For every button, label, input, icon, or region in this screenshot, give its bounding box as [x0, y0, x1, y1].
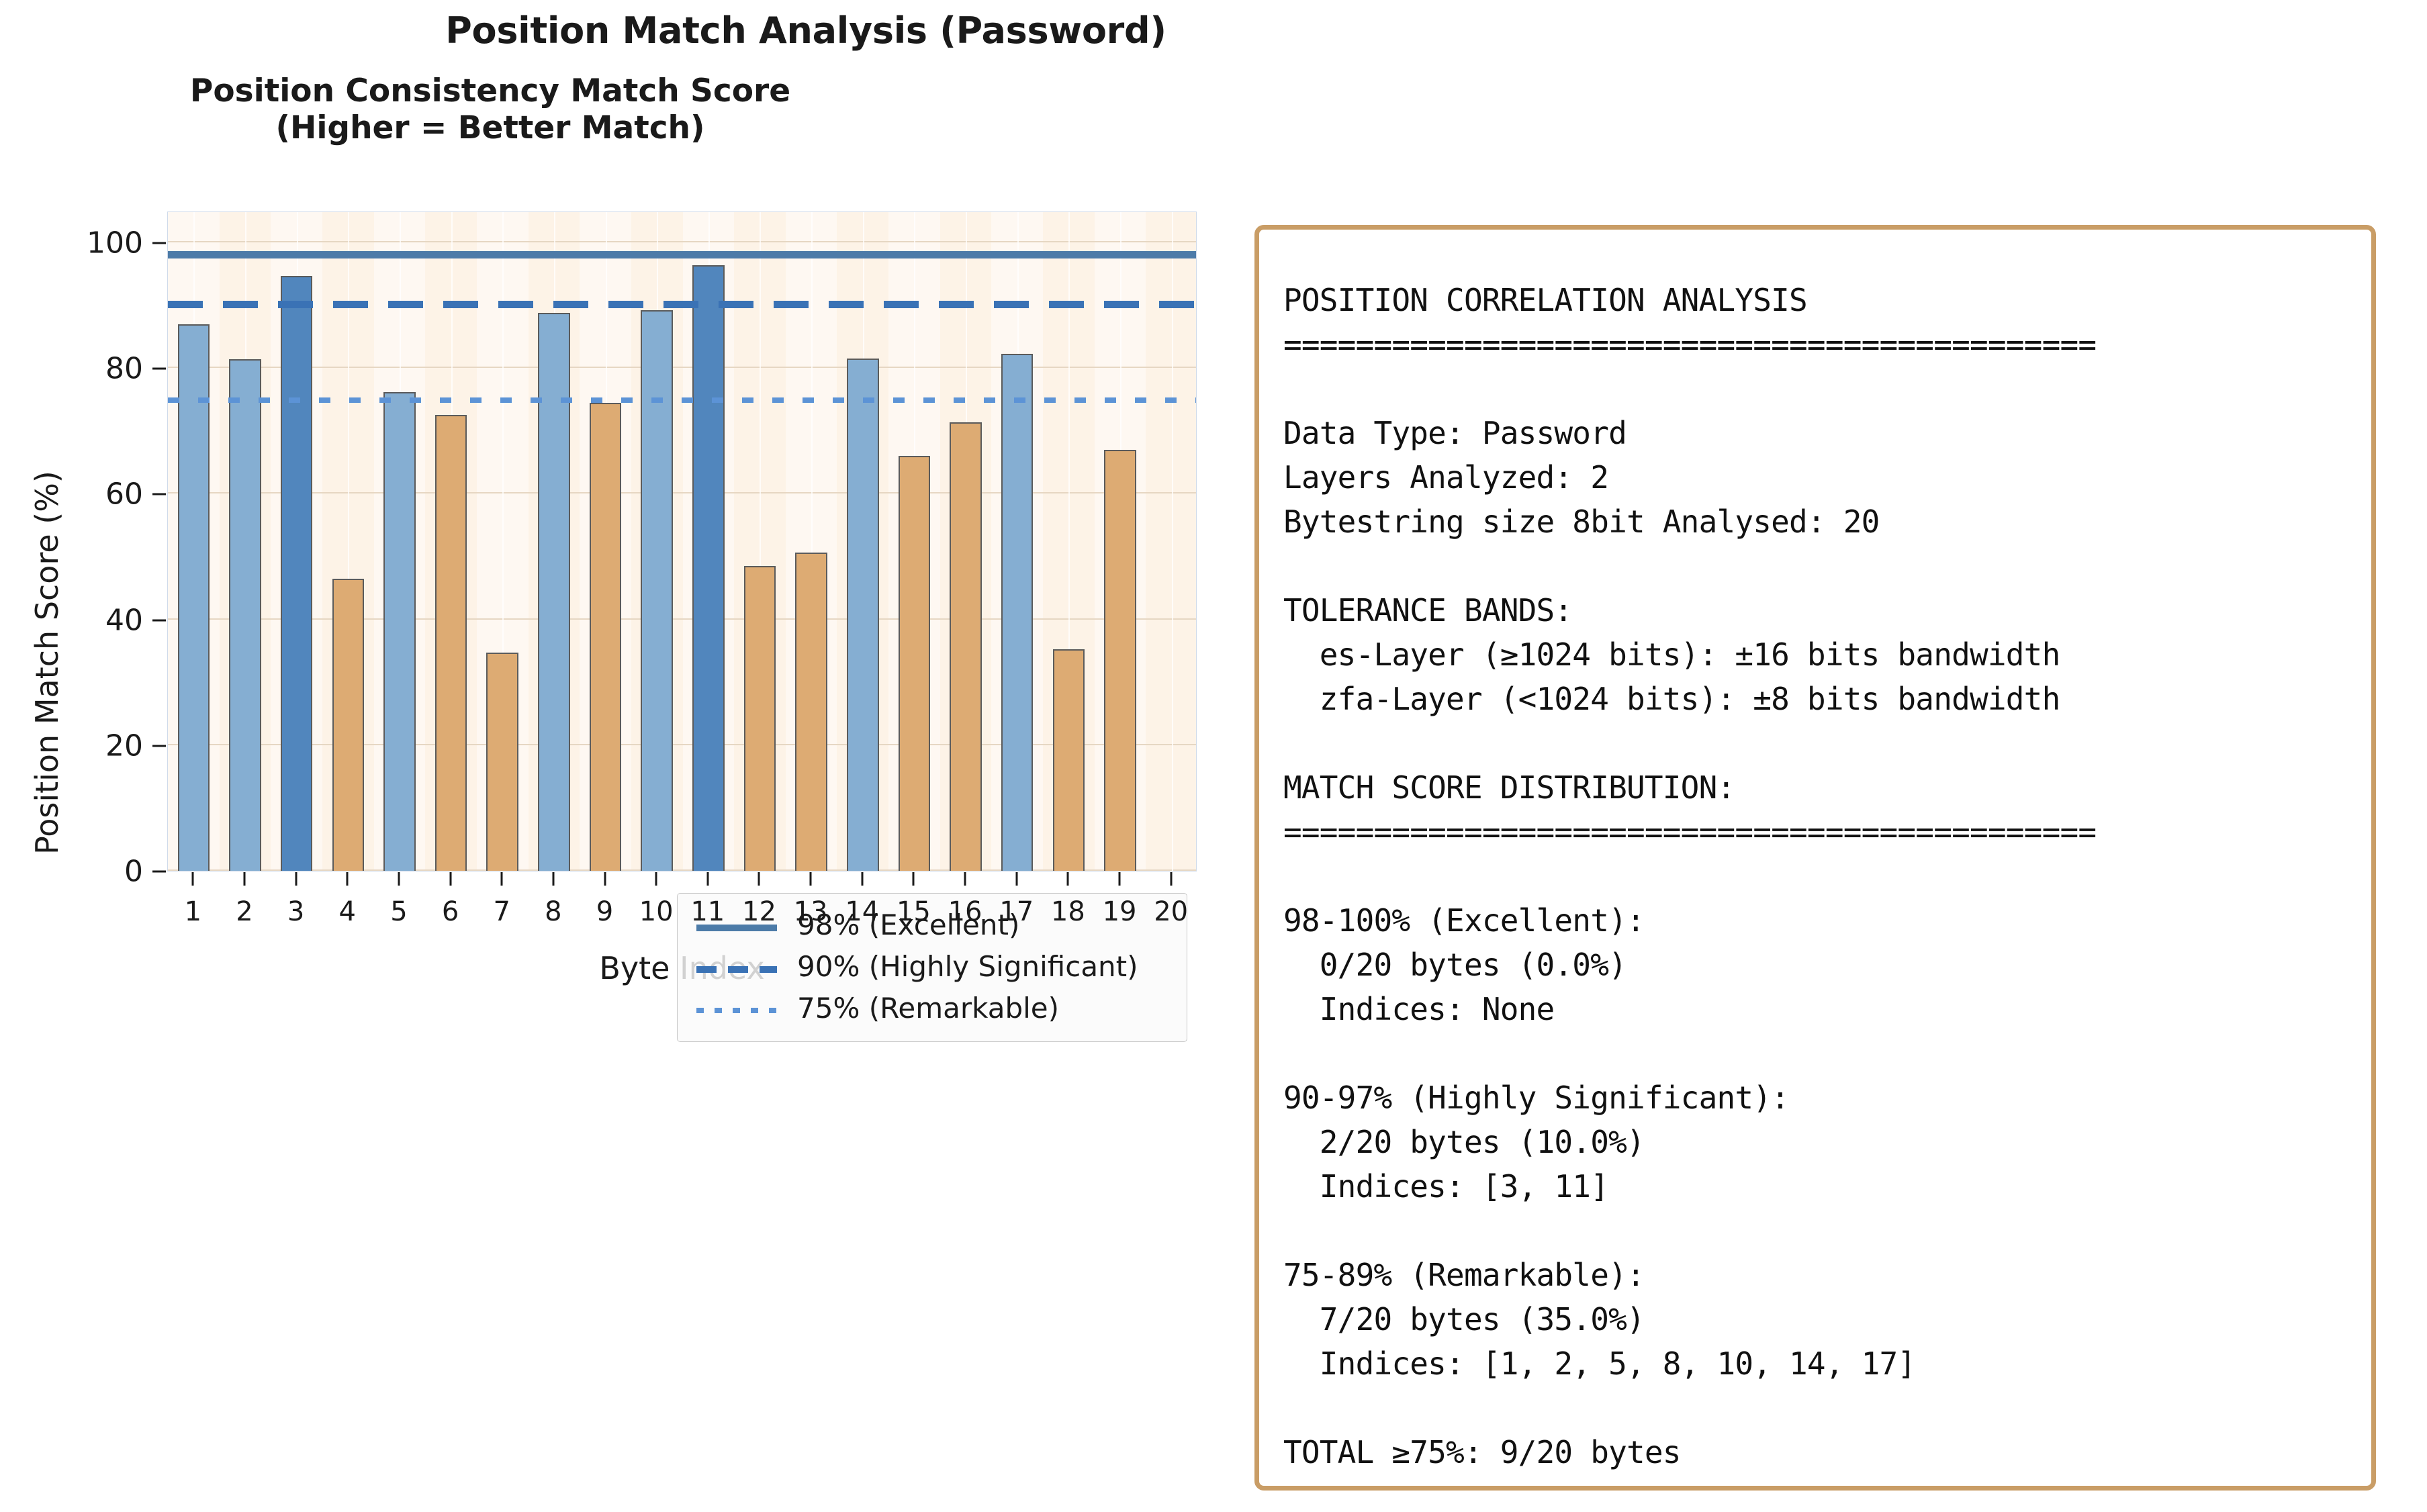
x-axis-tick-mark [1015, 872, 1017, 886]
legend-item-remarkable: 75% (Remarkable) [678, 989, 1187, 1031]
chart-title-line1: Position Consistency Match Score [190, 73, 790, 109]
x-axis-tick-label-2: 2 [236, 896, 253, 927]
gridline-horizontal [168, 618, 1196, 620]
bar-byte-16 [950, 422, 982, 871]
y-axis-tick-mark [152, 871, 166, 873]
x-axis-tick-label-14: 14 [845, 896, 879, 927]
x-axis-tick-mark [449, 872, 451, 886]
x-axis-tick-label-11: 11 [690, 896, 725, 927]
x-axis-tick-mark [1170, 872, 1172, 886]
x-axis-tick-mark [758, 872, 760, 886]
x-axis-tick-label-10: 10 [639, 896, 674, 927]
chart-title: Position Consistency Match Score (Higher… [154, 73, 826, 147]
x-axis-tick-mark [295, 872, 297, 886]
threshold-line-98 [168, 251, 1196, 258]
x-axis-tick-mark [810, 872, 812, 886]
legend-line-dashed-icon [696, 966, 777, 973]
x-axis-tick-mark [243, 872, 245, 886]
bar-byte-15 [899, 456, 931, 871]
x-axis-tick-label-12: 12 [742, 896, 776, 927]
y-axis-tick-mark [152, 745, 166, 747]
gridline-horizontal [168, 492, 1196, 493]
bar-byte-10 [641, 310, 673, 871]
x-axis-tick-label-18: 18 [1051, 896, 1085, 927]
x-axis-tick-label-20: 20 [1154, 896, 1188, 927]
gridline-horizontal [168, 367, 1196, 368]
x-axis-tick-label-7: 7 [493, 896, 510, 927]
y-axis-tick-label: 40 [42, 603, 143, 637]
x-axis-tick-mark [347, 872, 349, 886]
figure-suptitle: Position Match Analysis (Password) [0, 9, 1612, 52]
bar-byte-14 [847, 359, 879, 871]
y-axis-tick-label: 100 [42, 226, 143, 260]
report-text: POSITION CORRELATION ANALYSIS ==========… [1283, 278, 2096, 1474]
y-axis-tick-label: 60 [42, 477, 143, 512]
legend-label-highly-significant: 90% (Highly Significant) [797, 950, 1138, 983]
bar-byte-12 [744, 566, 776, 871]
x-axis-tick-label-13: 13 [794, 896, 828, 927]
y-axis-label: Position Match Score (%) [29, 394, 65, 931]
x-axis-tick-mark [964, 872, 966, 886]
x-axis-tick-label-19: 19 [1103, 896, 1137, 927]
x-axis-tick-mark [398, 872, 400, 886]
bar-byte-9 [590, 403, 622, 871]
y-axis-tick-mark [152, 242, 166, 244]
chart-title-line2: (Higher = Better Match) [154, 109, 826, 146]
x-axis-tick-mark [655, 872, 657, 886]
x-axis-tick-label-6: 6 [442, 896, 459, 927]
x-axis-tick-label-4: 4 [339, 896, 356, 927]
y-axis-tick-label: 20 [42, 728, 143, 763]
x-axis-tick-label-5: 5 [390, 896, 407, 927]
x-axis-tick-mark [604, 872, 606, 886]
legend-line-dotted-icon [696, 1008, 777, 1013]
bar-byte-7 [486, 653, 518, 871]
x-axis-tick-label-16: 16 [948, 896, 982, 927]
y-axis-tick-mark [152, 493, 166, 495]
bar-byte-8 [538, 313, 570, 871]
bar-byte-4 [332, 579, 365, 871]
x-axis-tick-mark [1067, 872, 1069, 886]
x-axis-tick-mark [501, 872, 503, 886]
position-correlation-analysis-panel: POSITION CORRELATION ANALYSIS ==========… [1254, 225, 2376, 1491]
bar-byte-1 [178, 324, 210, 871]
y-axis-tick-mark [152, 619, 166, 621]
bar-byte-13 [795, 553, 827, 871]
plot-area [167, 211, 1197, 871]
x-axis-tick-mark [913, 872, 915, 886]
x-axis-tick-label-8: 8 [545, 896, 561, 927]
bar-byte-3 [281, 276, 313, 871]
threshold-line-75 [168, 397, 1196, 403]
x-axis-tick-label-17: 17 [999, 896, 1034, 927]
x-axis-tick-mark [192, 872, 194, 886]
x-axis-tick-label-3: 3 [287, 896, 304, 927]
bar-byte-19 [1104, 450, 1136, 871]
bar-byte-6 [435, 415, 467, 871]
y-axis-tick-label: 0 [42, 855, 143, 889]
gridline-vertical [1172, 212, 1173, 871]
legend-item-highly-significant: 90% (Highly Significant) [678, 947, 1187, 989]
gridline-horizontal [168, 869, 1196, 871]
x-axis-tick-mark [706, 872, 708, 886]
x-axis-tick-label-1: 1 [185, 896, 201, 927]
bar-byte-17 [1001, 354, 1034, 871]
legend-label-remarkable: 75% (Remarkable) [797, 992, 1059, 1025]
x-axis-tick-mark [1119, 872, 1121, 886]
x-axis-tick-mark [552, 872, 554, 886]
gridline-horizontal [168, 241, 1196, 242]
bar-byte-5 [383, 392, 416, 871]
gridline-horizontal [168, 744, 1196, 745]
bar-byte-11 [692, 265, 725, 871]
bar-byte-2 [229, 359, 261, 871]
bar-chart: Position Match Score (%) Byte Index 98% … [0, 201, 1229, 1195]
x-axis-tick-mark [861, 872, 863, 886]
y-axis-tick-label: 80 [42, 352, 143, 386]
y-axis-tick-mark [152, 368, 166, 370]
threshold-line-90 [168, 301, 1196, 308]
x-axis-tick-label-9: 9 [596, 896, 613, 927]
bar-byte-18 [1053, 649, 1085, 871]
x-axis-tick-label-15: 15 [897, 896, 931, 927]
